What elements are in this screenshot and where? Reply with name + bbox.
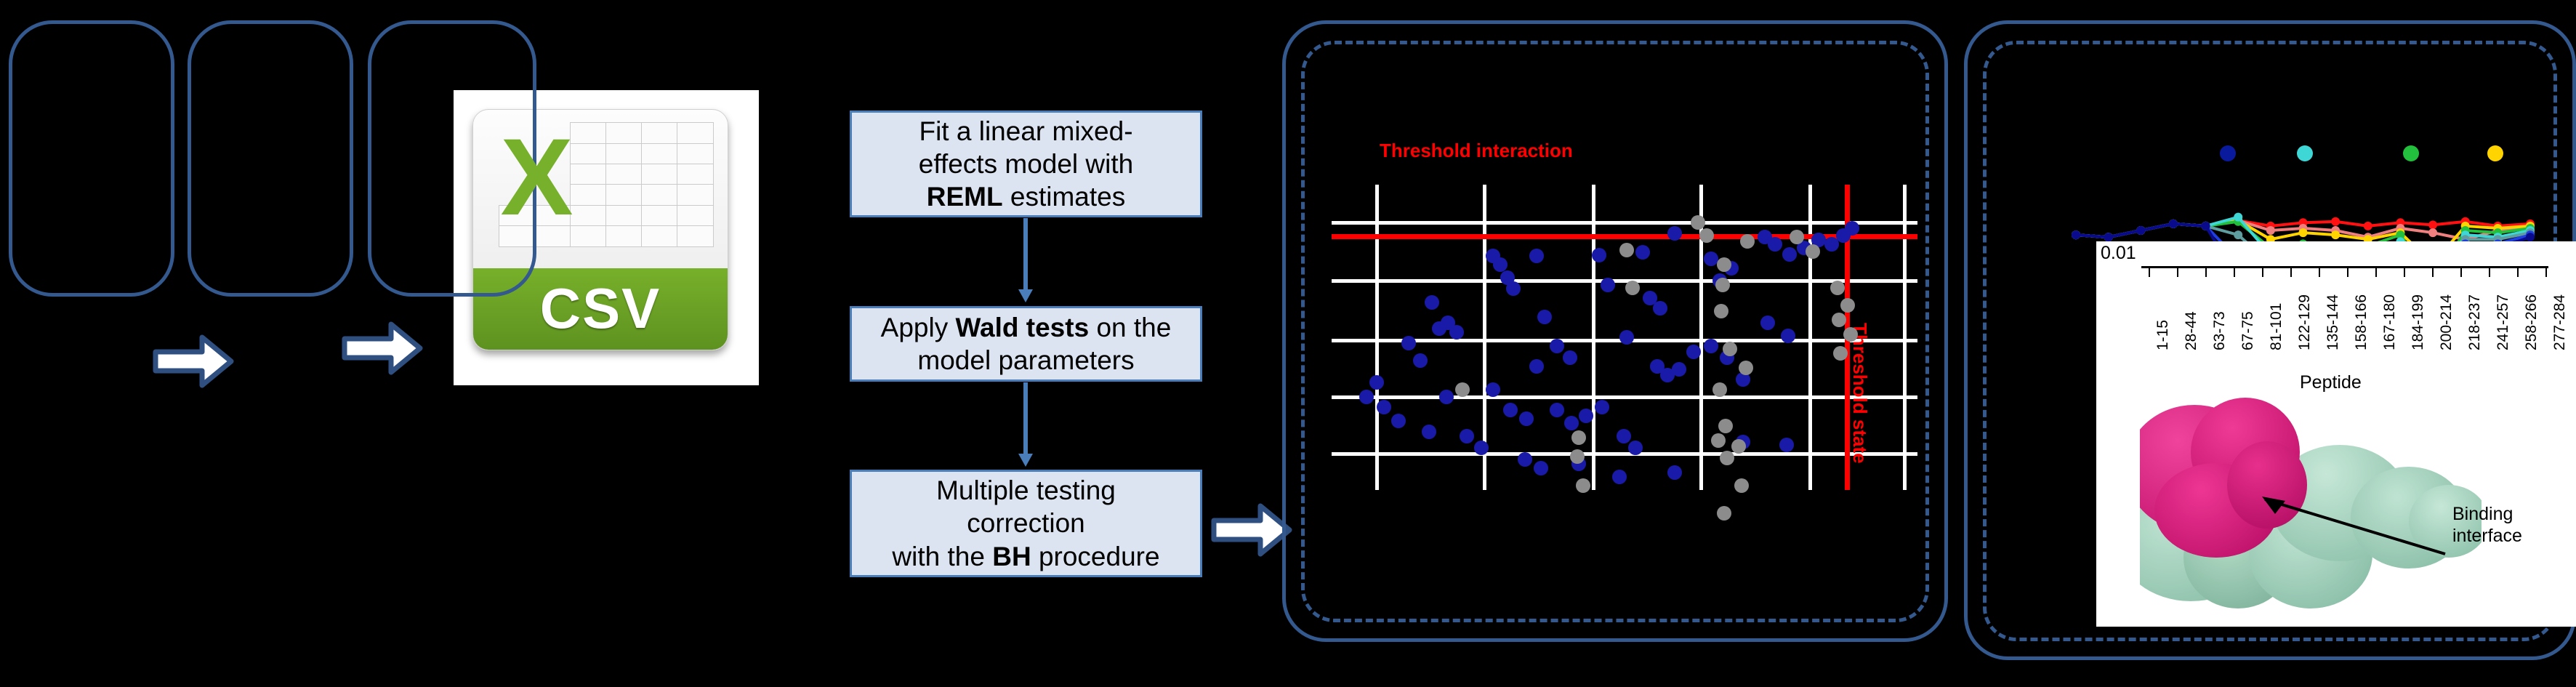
peptide-tick-label: 28-44 (2183, 311, 2200, 350)
volcano-point-significant (1768, 237, 1782, 252)
volcano-point-significant (1672, 362, 1686, 377)
volcano-point-significant (1474, 441, 1489, 455)
x-axis-title: Peptide (2300, 372, 2362, 393)
volcano-point-nonsignificant (1720, 451, 1734, 465)
volcano-point-nonsignificant (1739, 361, 1753, 375)
step-model-fit-box[interactable]: Fit a linear mixed- effects model with R… (850, 111, 1202, 217)
step-wald-tests-box[interactable]: Apply Wald tests on the model parameters (850, 306, 1202, 382)
volcano-point-nonsignificant (1717, 506, 1731, 521)
axis-tick (2375, 268, 2377, 277)
volcano-point-significant (1519, 411, 1534, 426)
arrow-analysis-to-volcano (1211, 502, 1292, 558)
arrow-wald-to-correction (1016, 382, 1035, 467)
volcano-point-significant (1391, 414, 1406, 428)
peptide-axis: 1-1528-4463-7367-7581-101122-129135-1441… (2096, 241, 2576, 387)
step-mt-line3-post: procedure (1031, 542, 1160, 571)
volcano-point-nonsignificant (1833, 346, 1848, 361)
axis-tick (2347, 268, 2348, 277)
axis-tick (2290, 268, 2292, 277)
volcano-point-nonsignificant (1712, 382, 1727, 397)
peptide-tick-label: 200-214 (2438, 294, 2455, 350)
volcano-point-significant (1760, 316, 1775, 330)
volcano-point-significant (1537, 310, 1552, 324)
volcano-point-significant (1377, 400, 1391, 414)
volcano-point-significant (1563, 350, 1577, 365)
volcano-point-nonsignificant (1717, 257, 1731, 272)
binding-interface-arrow (2140, 398, 2482, 616)
volcano-point-nonsignificant (1455, 382, 1470, 397)
step-wald-pre: Apply (881, 313, 956, 342)
step-mt-bold: BH (992, 542, 1031, 571)
peptide-tick-label: 67-75 (2239, 311, 2257, 350)
threshold-interaction-label: Threshold interaction (1380, 140, 1573, 162)
volcano-point-nonsignificant (1718, 419, 1733, 433)
axis-tick (2517, 268, 2519, 277)
peptide-tick-label: 158-166 (2353, 294, 2370, 350)
protein-structure-image (2140, 398, 2482, 616)
volcano-point-significant (1493, 257, 1508, 272)
volcano-point-nonsignificant (1714, 304, 1728, 318)
volcano-point-significant (1432, 321, 1446, 336)
series-marker (2072, 230, 2080, 239)
series-marker (2169, 220, 2178, 228)
volcano-point-significant (1486, 382, 1500, 397)
peptide-tick-label: 241-257 (2495, 294, 2512, 350)
series-marker (2202, 222, 2210, 230)
volcano-point-nonsignificant (1734, 478, 1749, 493)
volcano-plot[interactable]: Threshold interaction Threshold state (1332, 185, 1917, 490)
volcano-point-significant (1534, 461, 1548, 475)
peptide-tick-label: 122-129 (2296, 294, 2314, 350)
volcano-point-significant (1529, 249, 1544, 263)
threshold-state-label: Threshold state (1848, 323, 1871, 464)
volcano-point-nonsignificant (1843, 327, 1858, 342)
arrow-data-to-analysis (342, 320, 423, 377)
volcano-point-significant (1460, 429, 1474, 443)
series-marker (2234, 213, 2242, 222)
axis-tick (2432, 268, 2434, 277)
grid-line-h (1332, 279, 1917, 283)
peptide-tick-label: 63-73 (2211, 311, 2229, 350)
volcano-point-significant (1550, 403, 1564, 417)
volcano-point-significant (1425, 295, 1439, 310)
peptide-tick-label: 167-180 (2381, 294, 2399, 350)
volcano-point-significant (1635, 245, 1650, 260)
grid-line-h (1332, 452, 1917, 456)
step-mt-line3-pre: with the (892, 542, 992, 571)
step-model-fit-line1: Fit a linear mixed- (919, 116, 1132, 146)
grid-line-h (1332, 395, 1917, 399)
volcano-point-nonsignificant (1790, 230, 1804, 244)
volcano-point-significant (1845, 221, 1859, 236)
axis-tick (2149, 268, 2150, 277)
step-multiple-testing-box[interactable]: Multiple testing correction with the BH … (850, 470, 1202, 577)
volcano-point-significant (1564, 416, 1579, 430)
input-panel (9, 20, 174, 297)
step-model-fit-bold: REML (927, 182, 1003, 212)
volcano-point-significant (1601, 278, 1615, 292)
volcano-point-significant (1359, 390, 1374, 404)
volcano-point-significant (1782, 247, 1797, 262)
series-marker (2364, 222, 2372, 230)
peptide-tick-label: 258-266 (2523, 294, 2540, 350)
volcano-point-significant (1592, 248, 1606, 262)
grid-line-v (1375, 185, 1379, 490)
volcano-point-nonsignificant (1711, 433, 1726, 448)
axis-tick (2205, 268, 2207, 277)
peptide-tick-label: 135-144 (2325, 294, 2342, 350)
volcano-point-significant (1579, 409, 1593, 423)
axis-tick (2404, 268, 2405, 277)
volcano-point-significant (1413, 353, 1428, 368)
step-model-fit-line2: effects model with (919, 149, 1133, 179)
series-marker (2266, 226, 2275, 235)
volcano-point-nonsignificant (1570, 449, 1585, 464)
series-marker (2331, 217, 2340, 226)
axis-tick (2319, 268, 2320, 277)
axis-tick (2177, 268, 2178, 277)
volcano-point-nonsignificant (1830, 281, 1845, 295)
volcano-point-nonsignificant (1691, 215, 1705, 230)
axis-tick (2545, 268, 2547, 277)
volcano-point-significant (1653, 301, 1667, 316)
volcano-point-nonsignificant (1840, 298, 1855, 313)
step-wald-bold: Wald tests (956, 313, 1090, 342)
series-marker (2526, 233, 2535, 241)
volcano-point-nonsignificant (1699, 228, 1714, 243)
axis-tick (2489, 268, 2490, 277)
step-mt-line1: Multiple testing (936, 475, 1116, 505)
peptide-tick-label: 184-199 (2410, 294, 2427, 350)
volcano-point-nonsignificant (1576, 478, 1590, 493)
series-marker (2428, 220, 2437, 229)
volcano-point-nonsignificant (1832, 313, 1846, 327)
volcano-point-significant (1667, 465, 1682, 480)
volcano-point-significant (1595, 400, 1609, 414)
series-marker (2428, 228, 2437, 237)
binding-interface-annotation: Binding interface (2452, 503, 2522, 547)
volcano-point-significant (1704, 339, 1718, 353)
csv-file-card: X CSV (454, 90, 759, 385)
volcano-point-nonsignificant (1723, 342, 1737, 356)
peptide-tick-label: 1-15 (2154, 320, 2172, 350)
volcano-point-significant (1704, 252, 1718, 266)
volcano-point-nonsignificant (1619, 243, 1634, 257)
series-marker (2299, 228, 2308, 237)
axis-tick (2262, 268, 2263, 277)
volcano-point-significant (1781, 329, 1795, 343)
volcano-point-significant (1369, 375, 1384, 390)
excel-x-letter: X (483, 115, 590, 240)
csv-label-text: CSV (540, 276, 661, 342)
grid-line-v (1903, 185, 1907, 490)
step-mt-line2: correction (967, 508, 1084, 538)
volcano-point-significant (1422, 425, 1436, 439)
binding-interface-line2: interface (2452, 526, 2522, 546)
volcano-point-significant (1506, 281, 1521, 296)
volcano-point-nonsignificant (1740, 234, 1755, 249)
volcano-point-nonsignificant (1806, 244, 1820, 259)
grid-line-v (1592, 185, 1595, 490)
axis-tick (2234, 268, 2235, 277)
result-card: 0.01 1-1528-4463-7367-7581-101122-129135… (2096, 241, 2576, 627)
arrow-fit-to-wald (1016, 218, 1035, 302)
volcano-point-nonsignificant (1625, 281, 1640, 295)
volcano-point-significant (1449, 325, 1464, 340)
grid-line-v (1808, 185, 1812, 490)
peptide-tick-label: 277-284 (2551, 294, 2569, 350)
volcano-point-significant (1628, 441, 1643, 455)
volcano-point-significant (1667, 226, 1682, 241)
volcano-point-significant (1686, 345, 1701, 359)
volcano-point-significant (1518, 452, 1532, 467)
binding-interface-line1: Binding (2452, 504, 2513, 524)
volcano-point-significant (1503, 403, 1518, 417)
csv-file-icon[interactable]: X CSV (472, 109, 728, 350)
axis-tick (2460, 268, 2462, 277)
peptide-tick-label: 81-101 (2268, 303, 2285, 350)
grid-line-h (1332, 221, 1917, 225)
volcano-point-nonsignificant (1571, 430, 1586, 445)
volcano-point-nonsignificant (1731, 439, 1746, 454)
volcano-point-significant (1550, 339, 1564, 353)
peptide-tick-label: 218-237 (2466, 294, 2484, 350)
volcano-point-nonsignificant (1715, 278, 1730, 292)
data-panel (188, 20, 353, 297)
series-marker (2234, 230, 2242, 239)
volcano-point-significant (1612, 470, 1627, 484)
volcano-point-significant (1401, 336, 1416, 350)
series-marker (2136, 226, 2145, 235)
step-model-fit-rest: estimates (1003, 182, 1126, 212)
volcano-point-significant (1619, 330, 1634, 345)
series-marker (2104, 233, 2113, 241)
series-marker (2331, 230, 2340, 239)
volcano-point-significant (1617, 429, 1631, 443)
volcano-point-significant (1439, 390, 1454, 404)
arrow-input-to-data (153, 333, 234, 390)
volcano-point-significant (1779, 438, 1794, 452)
volcano-point-significant (1529, 359, 1544, 374)
